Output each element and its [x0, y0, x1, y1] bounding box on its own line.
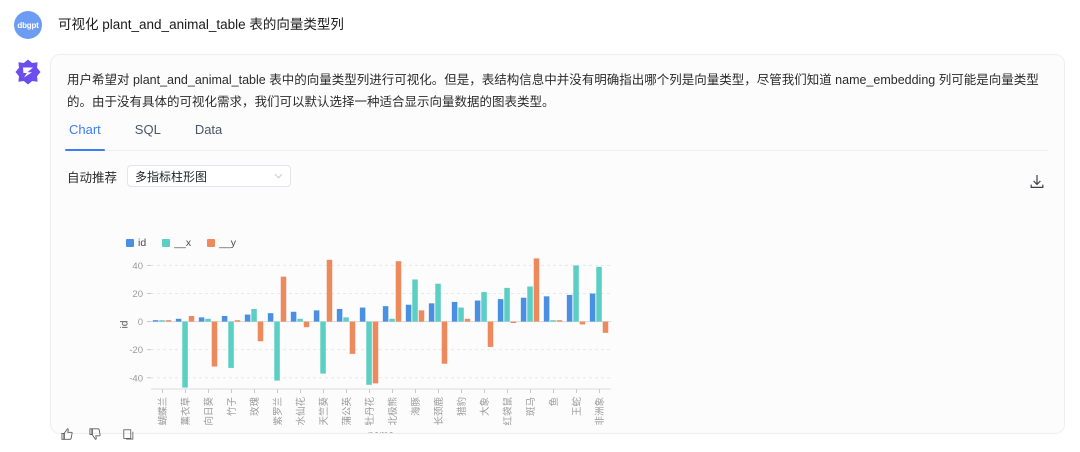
- x-tick-label: 猎豹: [456, 397, 468, 416]
- x-tick-label: 鱼: [548, 397, 560, 407]
- x-tick-label: 玫瑰: [249, 397, 261, 417]
- bar[interactable]: [596, 267, 602, 322]
- bar[interactable]: [350, 322, 356, 354]
- x-tick-label: 竹子: [226, 397, 238, 417]
- bar[interactable]: [557, 320, 563, 321]
- bar[interactable]: [458, 308, 464, 322]
- bar[interactable]: [573, 265, 579, 321]
- bar-chart-svg: 40200-20-40蝴蝶兰薰衣草向日葵竹子玫瑰紫罗兰水仙花天竺葵蒲公英牡丹花北…: [51, 221, 1065, 433]
- bar[interactable]: [452, 302, 458, 322]
- bar[interactable]: [297, 319, 303, 322]
- bar[interactable]: [189, 316, 195, 322]
- chart-type-row: 自动推荐 多指标柱形图: [67, 165, 1064, 187]
- x-tick-label: 蝴蝶兰: [157, 397, 169, 426]
- x-tick-label: 蒲公英: [341, 397, 353, 426]
- y-tick-label: 40: [132, 261, 143, 272]
- x-tick-label: 海豚: [410, 397, 422, 417]
- bar[interactable]: [435, 284, 441, 322]
- bar[interactable]: [419, 310, 425, 321]
- x-axis-title: name: [151, 429, 611, 434]
- bar[interactable]: [343, 317, 349, 321]
- copy-icon[interactable]: [122, 428, 135, 446]
- feedback-bar: [60, 427, 135, 446]
- thumbs-up-icon[interactable]: [60, 427, 74, 446]
- user-avatar-label: dbgpt: [17, 21, 38, 30]
- user-message-text: 可视化 plant_and_animal_table 表的向量类型列: [58, 15, 344, 35]
- bar[interactable]: [320, 322, 326, 374]
- x-tick-label: 非洲象: [594, 397, 606, 426]
- bar[interactable]: [580, 322, 586, 325]
- user-message-row: dbgpt 可视化 plant_and_animal_table 表的向量类型列: [0, 0, 1080, 50]
- bar[interactable]: [373, 322, 379, 384]
- bar[interactable]: [481, 292, 487, 321]
- bar[interactable]: [199, 317, 205, 321]
- chart-type-value: 多指标柱形图: [135, 168, 207, 185]
- bar[interactable]: [291, 312, 297, 322]
- user-avatar: dbgpt: [14, 11, 42, 39]
- chart-card: 用户希望对 plant_and_animal_table 表中的向量类型列进行可…: [50, 54, 1065, 434]
- bar[interactable]: [511, 322, 517, 323]
- assistant-avatar: [14, 58, 42, 86]
- bar[interactable]: [251, 309, 257, 322]
- y-tick-label: -40: [129, 373, 143, 384]
- bar[interactable]: [327, 260, 333, 322]
- bar[interactable]: [590, 294, 596, 322]
- x-tick-label: 大象: [479, 397, 491, 417]
- download-icon[interactable]: [1028, 173, 1046, 191]
- bar[interactable]: [544, 296, 550, 321]
- bar[interactable]: [166, 320, 172, 321]
- bar[interactable]: [366, 322, 372, 385]
- tab-chart[interactable]: Chart: [67, 123, 103, 150]
- bar[interactable]: [465, 319, 471, 322]
- chat-page: dbgpt 可视化 plant_and_animal_table 表的向量类型列…: [0, 0, 1080, 452]
- bar[interactable]: [550, 320, 556, 321]
- x-tick-label: 薰衣草: [180, 397, 192, 426]
- bar[interactable]: [228, 322, 234, 368]
- x-tick-label: 水仙花: [295, 397, 307, 426]
- bar[interactable]: [396, 261, 402, 321]
- assistant-intro-text: 用户希望对 plant_and_animal_table 表中的向量类型列进行可…: [51, 55, 1064, 117]
- x-tick-label: 红袋鼠: [502, 397, 514, 426]
- bar[interactable]: [153, 320, 159, 321]
- bar[interactable]: [603, 322, 609, 333]
- bar[interactable]: [389, 319, 395, 322]
- bar[interactable]: [235, 320, 241, 321]
- bar[interactable]: [304, 322, 310, 328]
- y-tick-label: -20: [129, 345, 143, 356]
- bar[interactable]: [429, 303, 435, 321]
- chart-area: id__x__y id 40200-20-40蝴蝶兰薰衣草向日葵竹子玫瑰紫罗兰水…: [51, 221, 1065, 433]
- bar[interactable]: [212, 322, 218, 367]
- bar[interactable]: [274, 322, 280, 381]
- x-tick-label: 斑马: [525, 397, 537, 416]
- bar[interactable]: [222, 316, 228, 322]
- x-tick-label: 牡丹花: [364, 397, 376, 426]
- chart-type-label: 自动推荐: [67, 167, 117, 186]
- bar[interactable]: [412, 279, 418, 321]
- bar[interactable]: [488, 322, 494, 347]
- x-tick-label: 紫罗兰: [272, 397, 284, 426]
- dbgpt-logo-icon: [14, 58, 42, 86]
- x-tick-label: 长颈鹿: [433, 397, 445, 426]
- bar[interactable]: [314, 310, 320, 321]
- x-tick-label: 向日葵: [203, 397, 215, 426]
- bar[interactable]: [534, 258, 540, 321]
- bar[interactable]: [337, 309, 343, 322]
- bar[interactable]: [442, 322, 448, 364]
- bar[interactable]: [205, 319, 211, 322]
- y-tick-label: 0: [138, 317, 143, 328]
- bar[interactable]: [406, 305, 412, 322]
- bar[interactable]: [475, 301, 481, 322]
- thumbs-down-icon[interactable]: [88, 427, 102, 446]
- tab-bar: Chart SQL Data: [67, 123, 1048, 151]
- x-tick-label: 王蛇: [571, 397, 583, 417]
- bar[interactable]: [360, 308, 366, 322]
- bar[interactable]: [498, 299, 504, 321]
- bar[interactable]: [268, 313, 274, 321]
- bar[interactable]: [567, 295, 573, 322]
- bar[interactable]: [182, 322, 188, 388]
- bar[interactable]: [159, 320, 165, 321]
- chart-type-select[interactable]: 多指标柱形图: [127, 165, 291, 187]
- x-tick-label: 北极熊: [387, 397, 399, 426]
- y-tick-label: 20: [132, 289, 143, 300]
- bar[interactable]: [176, 319, 182, 322]
- x-tick-label: 天竺葵: [318, 397, 330, 426]
- bar[interactable]: [245, 315, 251, 322]
- tab-sql[interactable]: SQL: [133, 123, 163, 150]
- bar[interactable]: [258, 322, 264, 342]
- bar[interactable]: [504, 288, 510, 322]
- tab-data[interactable]: Data: [193, 123, 224, 150]
- bar[interactable]: [521, 298, 527, 322]
- bar[interactable]: [383, 306, 389, 321]
- bar[interactable]: [527, 286, 533, 321]
- bar[interactable]: [281, 277, 287, 322]
- chevron-down-icon: [274, 172, 283, 181]
